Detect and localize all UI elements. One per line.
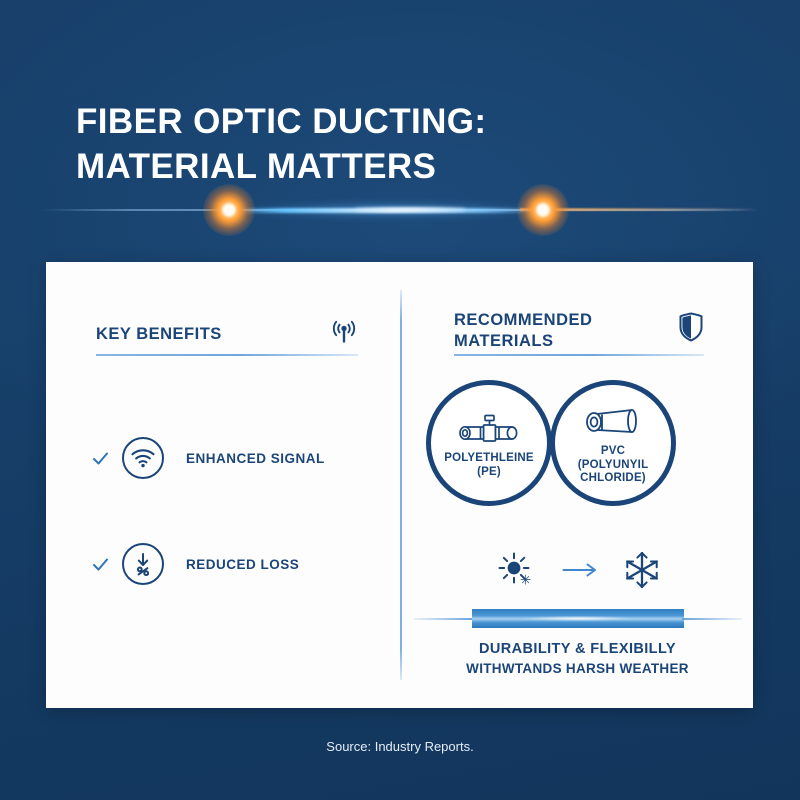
divider-core-highlight: [355, 207, 465, 212]
infographic-root: FIBER OPTIC DUCTING: MATERIAL MATTERS KE…: [0, 0, 800, 800]
content-card: KEY BENEFITS: [46, 262, 753, 708]
light-beam-divider: [0, 186, 800, 234]
check-icon: [92, 556, 109, 573]
page-title: FIBER OPTIC DUCTING: MATERIAL MATTERS: [76, 100, 696, 190]
source-note: Source: Industry Reports.: [0, 739, 800, 754]
material-name-sub: (POLYUNYIL: [578, 459, 649, 473]
materials-title-line-2: MATERIALS: [454, 331, 592, 352]
title-line-1: FIBER OPTIC DUCTING:: [76, 100, 696, 145]
duct-body: [472, 609, 684, 628]
durability-line-1: DURABILITY & FLEXIBILLY: [402, 640, 753, 660]
arrow-down-percent-icon: [122, 543, 164, 585]
sun-icon: [496, 550, 536, 595]
durability-line-2: WITHWTANDS HARSH WEATHER: [402, 660, 753, 678]
material-name: PVC (POLYUNYIL CHLORIDE): [572, 445, 655, 486]
material-circle-polyethylene: POLYETHLEINE (PE): [426, 380, 552, 506]
broadcast-signal-icon: [330, 320, 358, 351]
shield-icon: [678, 312, 704, 347]
material-name-main: PVC: [601, 445, 625, 457]
wifi-icon: [122, 437, 164, 479]
material-name-sub: (PE): [444, 466, 534, 480]
key-benefits-header: KEY BENEFITS: [96, 324, 358, 351]
material-name: POLYETHLEINE (PE): [438, 452, 540, 480]
material-circle-pvc: PVC (POLYUNYIL CHLORIDE): [550, 380, 676, 506]
title-line-2: MATERIAL MATTERS: [76, 145, 696, 190]
benefit-item-reduced-loss: REDUCED LOSS: [92, 543, 299, 585]
benefit-item-enhanced-signal: ENHANCED SIGNAL: [92, 437, 325, 479]
materials-title-line-1: RECOMMENDED: [454, 310, 592, 331]
flare-right-icon: [507, 189, 579, 231]
benefit-label: REDUCED LOSS: [186, 557, 299, 572]
recommended-materials-header: RECOMMENDED MATERIALS: [454, 310, 704, 352]
key-benefits-title: KEY BENEFITS: [96, 324, 222, 345]
weather-range-row: [402, 550, 753, 595]
duct-line-right: [682, 618, 742, 620]
pipe-duct-icon: [580, 404, 646, 442]
recommended-materials-title: RECOMMENDED MATERIALS: [454, 310, 592, 352]
duct-line-left: [414, 618, 474, 620]
flare-left-icon: [193, 189, 265, 231]
check-icon: [92, 450, 109, 467]
benefit-label: ENHANCED SIGNAL: [186, 451, 325, 466]
arrow-right-icon: [562, 562, 598, 583]
key-benefits-rule: [96, 354, 358, 356]
durability-caption: DURABILITY & FLEXIBILLY WITHWTANDS HARSH…: [402, 640, 753, 678]
material-name-main: POLYETHLEINE: [444, 452, 534, 464]
duct-bar-icon: [402, 607, 753, 629]
recommended-materials-rule: [454, 354, 704, 356]
snowflake-icon: [624, 551, 660, 594]
material-name-sub2: CHLORIDE): [578, 472, 649, 486]
pipe-with-coupling-icon: [452, 411, 526, 449]
